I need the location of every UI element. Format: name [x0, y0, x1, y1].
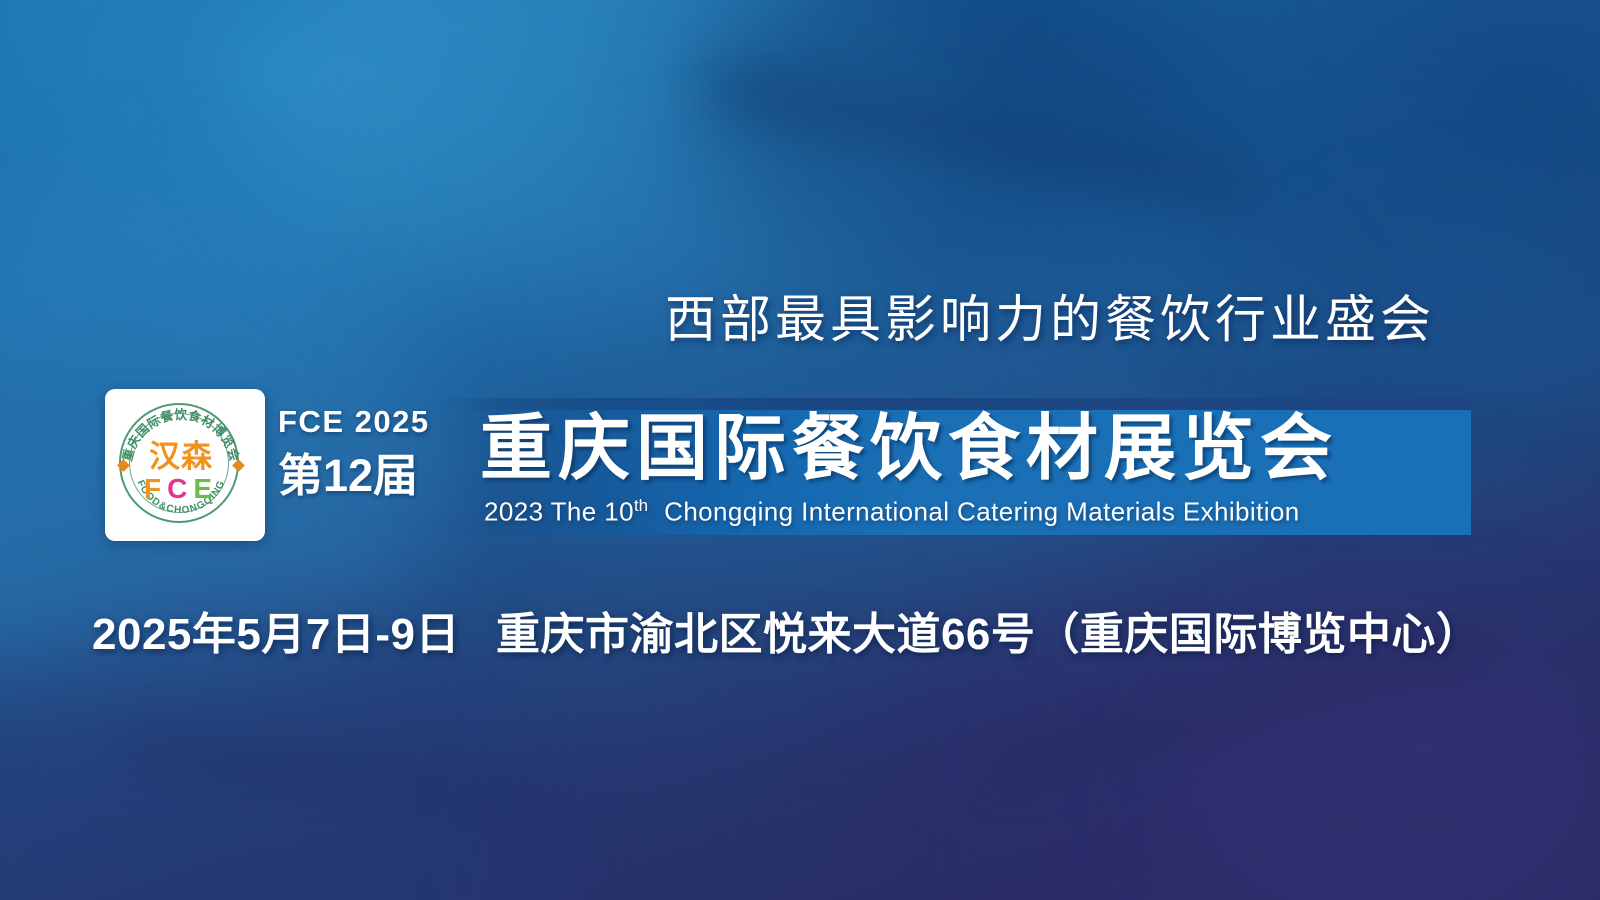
logo-letter-e: E: [193, 473, 218, 504]
fce-logo-mark: 重庆国际餐饮食材博览会 FOOD&CHONGQING 汉森 FCE: [113, 397, 249, 533]
tagline: 西部最具影响力的餐饮行业盛会: [640, 278, 1460, 352]
edition-block: FCE 2025 第12届: [278, 406, 458, 498]
title-banner: 重庆国际餐饮食材展览会 2023 The 10thChongqing Inter…: [436, 398, 1471, 535]
title-english: 2023 The 10thChongqing International Cat…: [484, 496, 1300, 528]
event-details-line: 2025年5月7日-9日重庆市渝北区悦来大道66号（重庆国际博览中心）: [92, 598, 1480, 662]
event-poster: 西部最具影响力的餐饮行业盛会 重庆国际餐饮食材博览会 FOOD&CHONGQIN…: [0, 0, 1600, 900]
logo-letter-c: C: [167, 473, 193, 504]
title-english-prefix: 2023 The 10: [484, 497, 634, 527]
edition-number-label: 第12届: [278, 453, 458, 498]
edition-year-label: FCE 2025: [278, 406, 458, 437]
event-dates: 2025年5月7日-9日: [92, 610, 460, 659]
fce-logo-card: 重庆国际餐饮食材博览会 FOOD&CHONGQING 汉森 FCE: [105, 389, 265, 541]
title-english-suffix: Chongqing International Catering Materia…: [664, 497, 1299, 527]
title-chinese: 重庆国际餐饮食材展览会: [480, 406, 1338, 494]
logo-letter-f: F: [144, 473, 167, 504]
logo-brand-letters: FCE: [113, 475, 249, 503]
logo-brand-cn: 汉森: [113, 441, 249, 472]
title-english-ordinal: th: [634, 496, 648, 515]
event-venue: 重庆市渝北区悦来大道66号（重庆国际博览中心）: [496, 610, 1480, 659]
